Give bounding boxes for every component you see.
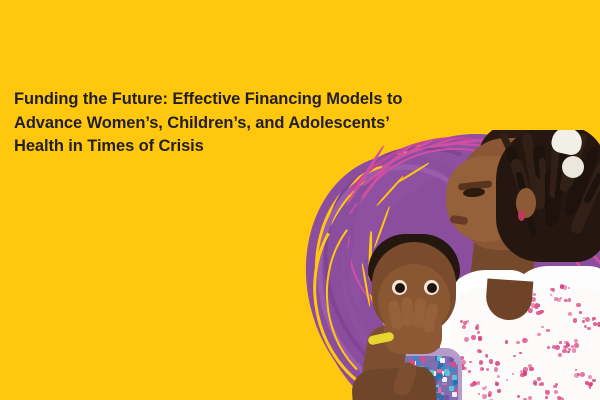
baby-right-pupil bbox=[427, 283, 437, 293]
dress-floral-dot bbox=[539, 310, 543, 314]
dress-floral-dot bbox=[583, 317, 585, 319]
dress-confetti-dot bbox=[452, 392, 457, 397]
baby-finger bbox=[401, 297, 414, 328]
dress-confetti-dot bbox=[444, 395, 449, 400]
dress-floral-dot bbox=[545, 390, 550, 395]
dress-floral-dot bbox=[567, 351, 569, 353]
dress-floral-dot bbox=[550, 294, 552, 296]
dress-floral-dot bbox=[537, 377, 541, 381]
dress-floral-dot bbox=[517, 395, 520, 398]
mother-hair-tie-knot bbox=[562, 156, 584, 178]
dress-floral-dot bbox=[585, 317, 590, 322]
dress-floral-dot bbox=[528, 364, 532, 368]
dress-confetti-dot bbox=[457, 361, 458, 366]
dress-floral-dot bbox=[533, 293, 536, 296]
dress-floral-dot bbox=[574, 343, 579, 348]
dress-floral-dot bbox=[555, 345, 560, 350]
dress-floral-dot bbox=[568, 298, 572, 302]
dress-floral-dot bbox=[469, 361, 472, 364]
dress-confetti-dot bbox=[451, 362, 456, 367]
dress-floral-dot bbox=[477, 331, 480, 334]
dress-floral-dot bbox=[574, 339, 578, 343]
dress-floral-dot bbox=[471, 335, 476, 340]
dress-floral-dot bbox=[478, 336, 482, 340]
dress-floral-dot bbox=[516, 341, 519, 344]
event-banner: Funding the Future: Effective Financing … bbox=[0, 0, 600, 400]
dress-floral-dot bbox=[464, 337, 469, 342]
dress-floral-dot bbox=[534, 383, 537, 386]
dress-floral-dot bbox=[545, 396, 548, 399]
dress-floral-dot bbox=[588, 375, 592, 379]
dress-floral-dot bbox=[562, 349, 566, 353]
dress-floral-dot bbox=[512, 373, 514, 375]
dress-floral-dot bbox=[546, 329, 550, 333]
dress-floral-dot bbox=[564, 299, 567, 302]
dress-floral-dot bbox=[505, 340, 508, 343]
dress-floral-dot bbox=[523, 367, 527, 371]
dress-floral-dot bbox=[579, 311, 582, 314]
dress-confetti-dot bbox=[437, 373, 442, 378]
dress-confetti-dot bbox=[438, 362, 443, 367]
banner-headline: Funding the Future: Effective Financing … bbox=[14, 88, 474, 159]
dress-floral-dot bbox=[522, 338, 526, 342]
dress-floral-dot bbox=[555, 383, 558, 386]
dress-floral-dot bbox=[568, 287, 570, 289]
baby-hands-at-mouth bbox=[384, 306, 442, 354]
dress-floral-dot bbox=[580, 372, 585, 377]
dress-floral-dot bbox=[592, 379, 595, 382]
dress-floral-dot bbox=[488, 394, 491, 397]
dress-floral-dot bbox=[470, 383, 474, 387]
dress-confetti-dot bbox=[452, 375, 457, 380]
dress-floral-dot bbox=[480, 367, 484, 371]
dress-floral-dot bbox=[468, 370, 472, 374]
dress-floral-dot bbox=[464, 367, 467, 370]
dress-floral-dot bbox=[519, 352, 522, 355]
dress-floral-dot bbox=[537, 333, 541, 337]
dress-floral-dot bbox=[497, 389, 500, 392]
dress-confetti-dot bbox=[440, 358, 445, 363]
dress-floral-dot bbox=[568, 312, 572, 316]
dress-floral-dot bbox=[568, 348, 571, 351]
dress-floral-dot bbox=[574, 373, 579, 378]
dress-floral-dot bbox=[572, 348, 577, 353]
dress-confetti-dot bbox=[442, 377, 447, 382]
dress-floral-dot bbox=[554, 390, 558, 394]
dress-floral-dot bbox=[557, 298, 561, 302]
photo-subjects bbox=[300, 130, 600, 400]
dress-floral-dot bbox=[563, 285, 567, 289]
dress-confetti-dot bbox=[413, 356, 418, 361]
dress-floral-dot bbox=[547, 346, 550, 349]
dress-confetti-dot bbox=[453, 380, 458, 385]
dress-floral-dot bbox=[482, 394, 486, 398]
dress-floral-dot bbox=[478, 393, 480, 395]
banner-artwork bbox=[300, 130, 600, 400]
dress-floral-dot bbox=[482, 387, 485, 390]
dress-floral-dot bbox=[477, 381, 481, 385]
dress-floral-dot bbox=[462, 325, 466, 329]
dress-confetti-dot bbox=[445, 371, 450, 376]
dress-floral-dot bbox=[558, 353, 562, 357]
dress-floral-dot bbox=[495, 361, 500, 366]
dress-floral-dot bbox=[576, 303, 581, 308]
dress-floral-dot bbox=[540, 382, 544, 386]
dress-floral-dot bbox=[575, 369, 577, 371]
dress-floral-dot bbox=[506, 379, 508, 381]
dress-floral-dot bbox=[486, 368, 489, 371]
dress-floral-dot bbox=[541, 326, 543, 328]
dress-floral-dot bbox=[466, 320, 469, 323]
dress-floral-dot bbox=[475, 326, 479, 330]
dress-floral-dot bbox=[592, 317, 596, 321]
mother-braided-hair bbox=[496, 130, 600, 262]
dress-floral-dot bbox=[559, 341, 562, 344]
dress-floral-dot bbox=[513, 355, 515, 357]
dress-floral-dot bbox=[485, 354, 488, 357]
dress-floral-dot bbox=[573, 318, 578, 323]
mother-earring bbox=[518, 210, 525, 221]
dress-floral-dot bbox=[494, 367, 499, 372]
dress-floral-dot bbox=[589, 382, 593, 386]
dress-floral-dot bbox=[489, 359, 494, 364]
dress-floral-dot bbox=[587, 327, 591, 331]
dress-confetti-dot bbox=[449, 386, 454, 391]
baby-left-pupil bbox=[395, 283, 405, 293]
dress-floral-dot bbox=[479, 350, 482, 353]
dress-floral-dot bbox=[497, 375, 501, 379]
